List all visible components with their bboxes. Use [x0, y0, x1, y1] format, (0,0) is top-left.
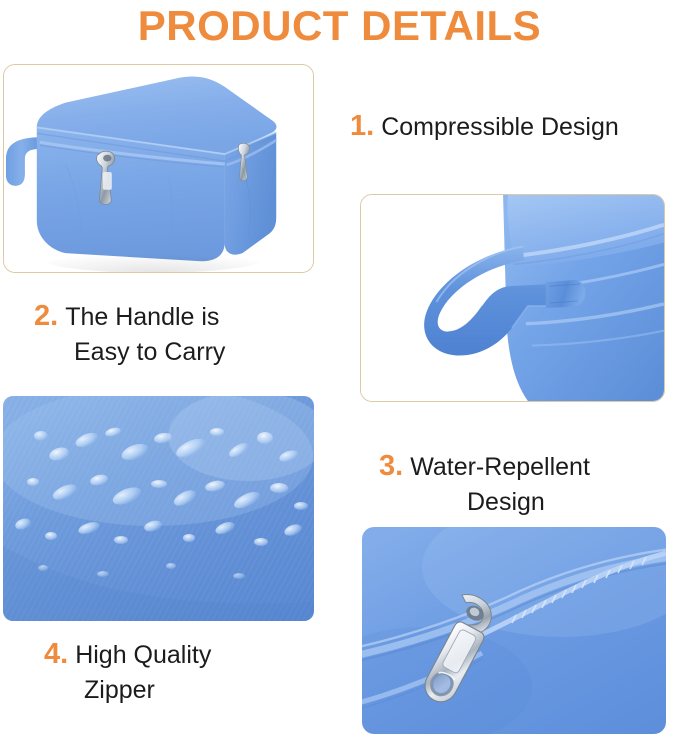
- panel-handle: [360, 194, 665, 402]
- feature-number-3: 3.: [379, 450, 403, 482]
- product-details-infographic: PRODUCT DETAILS: [0, 0, 679, 744]
- feature-text-3-line2: Design: [379, 486, 590, 519]
- zipper-photo: [362, 527, 666, 734]
- feature-caption-3: 3.Water-Repellent Design: [379, 448, 590, 518]
- feature-text-2-line1: The Handle is: [65, 303, 219, 331]
- panel-water-repellent: [3, 396, 314, 621]
- water-repellent-photo: [3, 396, 314, 621]
- feature-text-4-line1: High Quality: [75, 641, 211, 669]
- compressible-bag-photo: [4, 65, 313, 272]
- feature-text-1-line1: Compressible Design: [381, 113, 619, 141]
- feature-text-4-line2: Zipper: [44, 674, 211, 707]
- feature-text-2-line2: Easy to Carry: [34, 336, 225, 369]
- feature-caption-4: 4.High Quality Zipper: [44, 636, 211, 706]
- feature-caption-2: 2.The Handle is Easy to Carry: [34, 298, 225, 368]
- feature-text-3-line1: Water-Repellent: [410, 453, 590, 481]
- panel-compressible-bag: [3, 64, 314, 273]
- feature-caption-1: 1.Compressible Design: [350, 108, 619, 146]
- handle-photo: [361, 195, 664, 401]
- panel-zipper: [362, 527, 666, 734]
- page-title: PRODUCT DETAILS: [0, 2, 679, 50]
- feature-number-4: 4.: [44, 638, 68, 670]
- feature-number-1: 1.: [350, 110, 374, 142]
- feature-number-2: 2.: [34, 300, 58, 332]
